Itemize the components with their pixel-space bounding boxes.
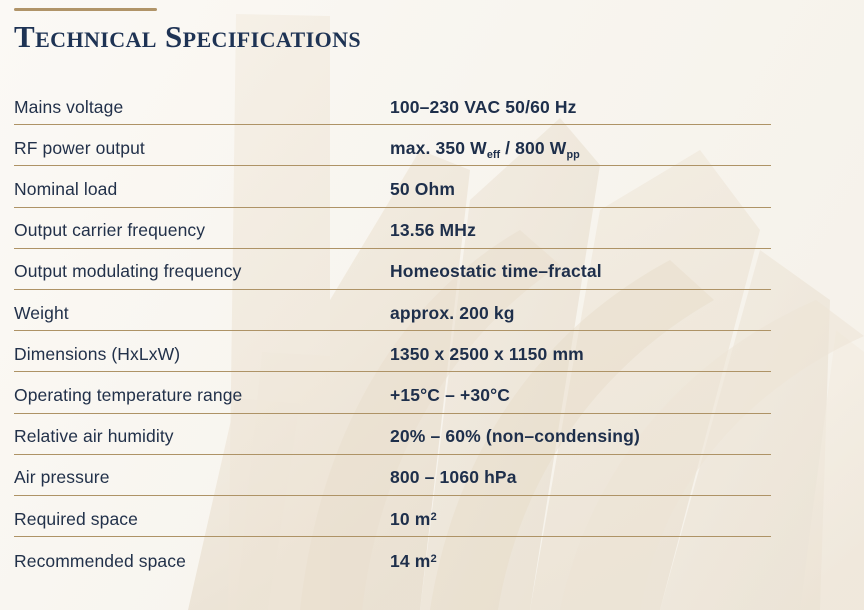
page-header: Technical Specifications xyxy=(14,8,814,54)
table-row: Nominal load 50 Ohm xyxy=(14,166,771,207)
spec-label: Nominal load xyxy=(14,181,390,207)
table-row: Relative air humidity 20% – 60% (non–con… xyxy=(14,414,771,455)
spec-label: Dimensions (HxLxW) xyxy=(14,346,390,372)
spec-label: Air pressure xyxy=(14,469,390,495)
spec-value: max. 350 Weff / 800 Wpp xyxy=(390,140,771,166)
spec-value: 10 m2 xyxy=(390,511,771,537)
table-row: Weight approx. 200 kg xyxy=(14,290,771,331)
table-row: Operating temperature range +15°C – +30°… xyxy=(14,372,771,413)
spec-value: Homeostatic time–fractal xyxy=(390,263,771,289)
spec-label: Relative air humidity xyxy=(14,428,390,454)
spec-value: 13.56 MHz xyxy=(390,222,771,248)
table-row: Air pressure 800 – 1060 hPa xyxy=(14,455,771,496)
spec-value: 20% – 60% (non–condensing) xyxy=(390,428,771,454)
spec-label: Weight xyxy=(14,305,390,331)
specifications-table: Mains voltage 100–230 VAC 50/60 Hz RF po… xyxy=(14,84,771,578)
table-row: Required space 10 m2 xyxy=(14,496,771,537)
spec-value: 14 m2 xyxy=(390,553,771,579)
spec-label: Output modulating frequency xyxy=(14,263,390,289)
spec-label: Output carrier frequency xyxy=(14,222,390,248)
table-row: Dimensions (HxLxW) 1350 x 2500 x 1150 mm xyxy=(14,331,771,372)
table-row: Output carrier frequency 13.56 MHz xyxy=(14,208,771,249)
spec-value: 100–230 VAC 50/60 Hz xyxy=(390,99,771,125)
spec-value: 1350 x 2500 x 1150 mm xyxy=(390,346,771,372)
table-row: Output modulating frequency Homeostatic … xyxy=(14,249,771,290)
spec-label: RF power output xyxy=(14,140,390,166)
spec-label: Mains voltage xyxy=(14,99,390,125)
spec-label: Recommended space xyxy=(14,553,390,579)
table-row: Recommended space 14 m2 xyxy=(14,537,771,578)
accent-rule xyxy=(14,8,157,11)
spec-label: Operating temperature range xyxy=(14,387,390,413)
spec-value: 50 Ohm xyxy=(390,181,771,207)
spec-label: Required space xyxy=(14,511,390,537)
table-row: RF power output max. 350 Weff / 800 Wpp xyxy=(14,125,771,166)
spec-value: +15°C – +30°C xyxy=(390,387,771,413)
spec-value: approx. 200 kg xyxy=(390,305,771,331)
specification-page: Technical Specifications Mains voltage 1… xyxy=(0,0,864,610)
spec-value: 800 – 1060 hPa xyxy=(390,469,771,495)
page-title: Technical Specifications xyxy=(14,21,814,54)
table-row: Mains voltage 100–230 VAC 50/60 Hz xyxy=(14,84,771,125)
